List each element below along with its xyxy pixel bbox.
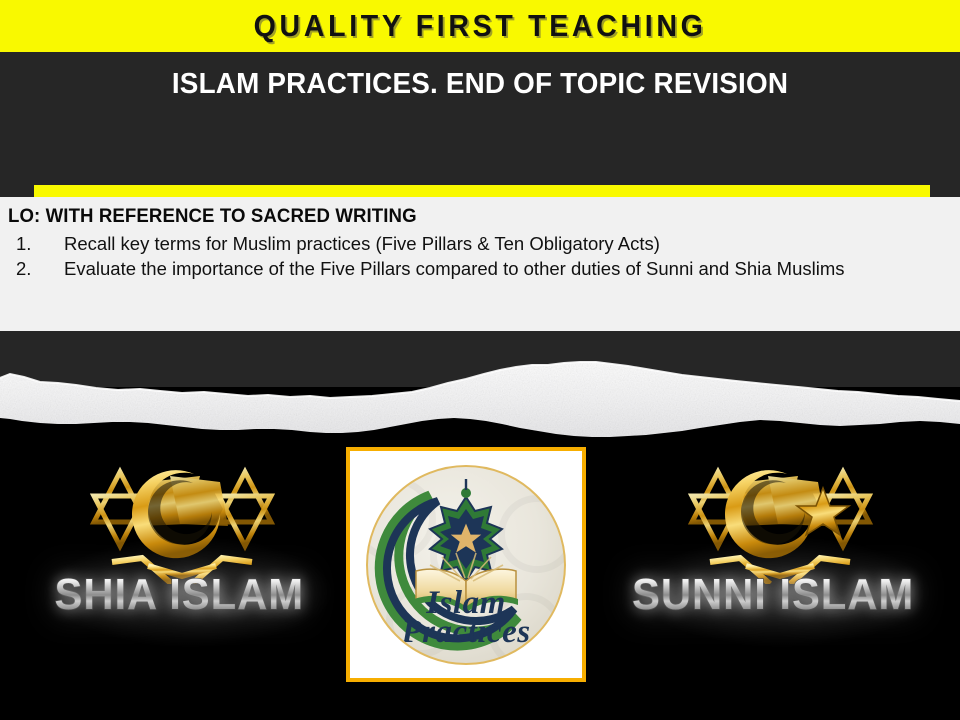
learning-objectives-box: LO: WITH REFERENCE TO SACRED WRITING 1. … [0,197,960,331]
crescent-star-emblem-icon [20,454,350,584]
list-item-text: Recall key terms for Muslim practices (F… [64,233,660,254]
list-item: 2. Evaluate the importance of the Five P… [8,256,950,281]
title-band: ISLAM PRACTICES. END OF TOPIC REVISION G… [0,52,960,197]
list-item-number: 2. [16,256,31,281]
islam-practices-logo-icon: Islam Practices [366,465,566,665]
learning-objectives-list: 1. Recall key terms for Muslim practices… [8,231,950,281]
banner-text: QUALITY FIRST TEACHING [254,8,707,44]
dark-gap-band [0,331,960,387]
quality-first-teaching-banner: QUALITY FIRST TEACHING [0,0,960,52]
list-item-number: 1. [16,231,31,256]
logo-text-line-2: Practices [368,614,564,651]
sunni-islam-image: SUNNI ISLAM SUNNI ISLAM [608,452,953,682]
shia-islam-label: SHIA ISLAM [32,570,327,620]
shia-islam-image: SHIA ISLAM SHIA ISLAM [20,452,350,682]
page-title: ISLAM PRACTICES. END OF TOPIC REVISION [19,68,941,101]
learning-objectives-heading: LO: WITH REFERENCE TO SACRED WRITING [8,206,931,228]
list-item: 1. Recall key terms for Muslim practices… [8,231,950,256]
crescent-star-emblem-icon [608,454,953,584]
islam-practices-logo-card: Islam Practices [346,447,586,682]
slide-canvas: QUALITY FIRST TEACHING ISLAM PRACTICES. … [0,0,960,720]
list-item-text: Evaluate the importance of the Five Pill… [64,258,845,279]
sunni-islam-label: SUNNI ISLAM [614,570,932,620]
